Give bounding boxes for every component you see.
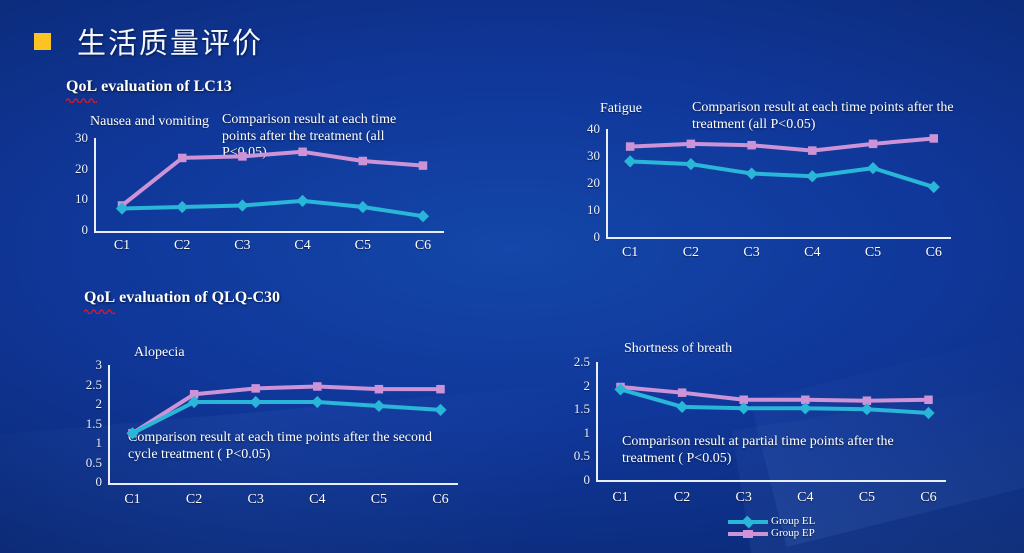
legend-label-ep: Group EP <box>771 527 815 539</box>
y-axis-tick-label: 1.5 <box>574 401 590 417</box>
y-axis-tick-label: 10 <box>587 202 600 218</box>
chart-nausea-and-vomiting: Nausea and vomiting Comparison result at… <box>58 108 458 258</box>
chart-series-layer <box>108 365 458 482</box>
y-axis-tick-label: 0 <box>584 472 591 488</box>
series-marker <box>359 157 367 165</box>
chart-series-layer <box>94 138 444 230</box>
x-axis-line <box>108 483 458 485</box>
series-marker <box>930 135 938 143</box>
chart-fatigue-title: Fatigue <box>600 101 642 117</box>
chart-nausea-title: Nausea and vomiting <box>90 114 209 130</box>
x-axis-tick-label: C1 <box>114 238 130 254</box>
y-axis-tick-label: 30 <box>587 148 600 164</box>
series-marker <box>178 154 186 162</box>
series-marker <box>862 404 873 415</box>
series-marker <box>250 397 261 408</box>
series-marker <box>375 385 383 393</box>
x-axis-line <box>596 480 946 482</box>
y-axis-tick-label: 0.5 <box>574 448 590 464</box>
x-axis-tick-label: C5 <box>865 245 881 261</box>
x-axis-line <box>94 231 444 233</box>
y-axis-tick-label: 0 <box>96 474 103 490</box>
chart-fatigue: Fatigue Comparison result at each time p… <box>560 98 980 263</box>
series-line <box>630 161 934 187</box>
series-marker <box>868 163 879 174</box>
y-axis-tick-label: 1 <box>584 425 591 441</box>
section-heading-lc13: QoL evaluation of LC13 <box>66 78 232 96</box>
series-marker <box>869 140 877 148</box>
series-marker <box>800 403 811 414</box>
series-marker <box>748 141 756 149</box>
y-axis-tick-label: 0 <box>594 229 601 245</box>
series-marker <box>374 401 385 412</box>
y-axis-tick-label: 40 <box>587 121 600 137</box>
spellcheck-squiggle-icon <box>66 96 97 103</box>
series-marker <box>925 396 933 404</box>
section-heading-qlqc30-rest: evaluation of QLQ-C30 <box>115 289 280 306</box>
y-axis-tick-label: 1 <box>96 435 103 451</box>
spellcheck-squiggle-icon <box>84 307 115 314</box>
series-marker <box>297 195 308 206</box>
series-group-el <box>625 156 939 192</box>
y-axis-tick-label: 0 <box>82 222 89 238</box>
x-axis-tick-label: C5 <box>355 238 371 254</box>
chart-series-layer <box>596 362 946 480</box>
series-marker <box>314 383 322 391</box>
y-axis-tick-label: 30 <box>75 130 88 146</box>
legend-swatch-ep-icon <box>728 528 768 539</box>
x-axis-tick-label: C2 <box>683 245 699 261</box>
series-marker <box>677 401 688 412</box>
legend-item-group-ep: Group EP <box>728 527 815 539</box>
x-axis-tick-label: C4 <box>797 490 813 506</box>
series-marker <box>177 202 188 213</box>
page-title: 生活质量评价 <box>77 20 263 62</box>
section-heading-qlqc30: QoL evaluation of QLQ-C30 <box>84 289 280 307</box>
bullet-square-icon <box>34 33 51 50</box>
series-line <box>133 402 441 433</box>
series-marker <box>419 162 427 170</box>
chart-nausea-plot: 0102030C1C2C3C4C5C6 <box>94 138 444 230</box>
slide-canvas: 生活质量评价 QoL evaluation of LC13 QoL evalua… <box>0 0 1024 553</box>
series-marker <box>357 202 368 213</box>
y-axis-tick-label: 2 <box>96 396 103 412</box>
y-axis-tick-label: 1.5 <box>86 416 102 432</box>
x-axis-tick-label: C5 <box>371 492 387 508</box>
series-marker <box>807 171 818 182</box>
slide-title-row: 生活质量评价 <box>34 20 263 62</box>
series-line <box>630 138 934 150</box>
series-marker <box>299 148 307 156</box>
series-marker <box>928 182 939 193</box>
series-marker <box>312 397 323 408</box>
y-axis-tick-label: 20 <box>587 175 600 191</box>
y-axis-tick-label: 2 <box>584 378 591 394</box>
series-marker <box>237 200 248 211</box>
x-axis-tick-label: C6 <box>415 238 431 254</box>
series-marker <box>626 143 634 151</box>
y-axis-tick-label: 20 <box>75 161 88 177</box>
series-group-ep <box>626 135 937 155</box>
x-axis-tick-label: C3 <box>234 238 250 254</box>
series-marker <box>625 156 636 167</box>
chart-shortness-of-breath: Shortness of breath Comparison result at… <box>556 338 986 508</box>
x-axis-tick-label: C2 <box>674 490 690 506</box>
series-marker <box>437 385 445 393</box>
section-heading-qlqc30-qol: QoL <box>84 289 115 307</box>
y-axis-tick-label: 2.5 <box>574 354 590 370</box>
x-axis-tick-label: C6 <box>432 492 448 508</box>
series-marker <box>738 403 749 414</box>
chart-alopecia-title: Alopecia <box>134 345 185 361</box>
series-marker <box>687 140 695 148</box>
x-axis-tick-label: C1 <box>612 490 628 506</box>
series-group-ep <box>118 148 427 209</box>
x-axis-tick-label: C3 <box>736 490 752 506</box>
y-axis-tick-label: 2.5 <box>86 377 102 393</box>
x-axis-tick-label: C1 <box>124 492 140 508</box>
chart-series-layer <box>606 129 951 237</box>
series-marker <box>252 385 260 393</box>
legend-item-group-el: Group EL <box>728 515 815 527</box>
y-axis-tick-label: 10 <box>75 191 88 207</box>
chart-shortness-title: Shortness of breath <box>624 341 732 357</box>
x-axis-tick-label: C2 <box>186 492 202 508</box>
x-axis-tick-label: C4 <box>294 238 310 254</box>
chart-alopecia: Alopecia Comparison result at each time … <box>72 340 502 510</box>
series-marker <box>685 159 696 170</box>
series-marker <box>435 404 446 415</box>
series-marker <box>746 168 757 179</box>
chart-alopecia-plot: 00.511.522.53C1C2C3C4C5C6 <box>108 365 458 482</box>
series-line <box>122 152 423 206</box>
series-marker <box>809 147 817 155</box>
x-axis-tick-label: C6 <box>926 245 942 261</box>
series-marker <box>418 211 429 222</box>
legend-label-el: Group EL <box>771 515 815 527</box>
series-line <box>621 387 929 401</box>
series-group-el <box>127 397 446 439</box>
series-marker <box>239 153 247 161</box>
x-axis-tick-label: C4 <box>309 492 325 508</box>
legend-swatch-el-icon <box>728 516 768 527</box>
y-axis-tick-label: 3 <box>96 357 103 373</box>
x-axis-tick-label: C5 <box>859 490 875 506</box>
x-axis-tick-label: C3 <box>743 245 759 261</box>
x-axis-line <box>606 237 951 239</box>
x-axis-tick-label: C2 <box>174 238 190 254</box>
section-heading-lc13-rest: evaluation of LC13 <box>97 78 232 95</box>
series-marker <box>923 408 934 419</box>
series-group-el <box>117 195 429 221</box>
chart-legend: Group EL Group EP <box>728 515 815 539</box>
chart-shortness-plot: 00.511.522.5C1C2C3C4C5C6 <box>596 362 946 480</box>
x-axis-tick-label: C1 <box>622 245 638 261</box>
y-axis-tick-label: 0.5 <box>86 455 102 471</box>
series-marker <box>678 389 686 397</box>
x-axis-tick-label: C6 <box>920 490 936 506</box>
chart-fatigue-plot: 010203040C1C2C3C4C5C6 <box>606 129 951 237</box>
series-line <box>122 201 423 216</box>
section-heading-lc13-qol: QoL <box>66 78 97 96</box>
x-axis-tick-label: C3 <box>248 492 264 508</box>
x-axis-tick-label: C4 <box>804 245 820 261</box>
